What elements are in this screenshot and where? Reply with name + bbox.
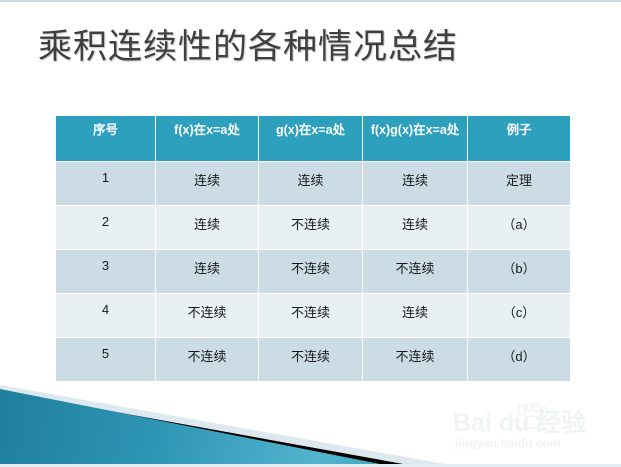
watermark-url: jingyan.baidu.com [455,436,560,450]
continuity-summary-table: 序号 f(x)在x=a处 g(x)在x=a处 f(x)g(x)在x=a处 例子 … [55,115,571,382]
table-row: 2 连续 不连续 连续 （a） [56,206,571,250]
cell-g: 不连续 [259,250,363,294]
cell-f: 连续 [156,250,259,294]
decorative-teal-triangle [0,385,621,467]
cell-example: （b） [468,250,571,294]
column-header-index: 序号 [56,116,156,162]
cell-g: 不连续 [259,294,363,338]
cell-product: 连续 [363,294,468,338]
column-header-f: f(x)在x=a处 [156,116,259,162]
table-row: 5 不连续 不连续 不连续 （d） [56,338,571,382]
cell-example: （a） [468,206,571,250]
column-header-product: f(x)g(x)在x=a处 [363,116,468,162]
cell-f: 不连续 [156,294,259,338]
cell-g: 不连续 [259,338,363,382]
cell-index: 3 [56,250,156,294]
table-header: 序号 f(x)在x=a处 g(x)在x=a处 f(x)g(x)在x=a处 例子 [56,116,571,162]
cell-product: 连续 [363,162,468,206]
page-title: 乘积连续性的各种情况总结 [38,24,458,70]
baidu-jingyan-watermark: Bai du 经验 jingyan.baidu.com [453,403,605,453]
cell-example: 定理 [468,162,571,206]
slide-canvas: 乘积连续性的各种情况总结 序号 f(x)在x=a处 g(x)在x=a处 f(x)… [0,0,621,467]
watermark-brand: Bai du 经验 [453,409,586,437]
paw-print-icon [515,403,549,429]
cell-g: 连续 [259,162,363,206]
cell-f: 连续 [156,162,259,206]
cell-product: 不连续 [363,338,468,382]
cell-f: 连续 [156,206,259,250]
table-header-row: 序号 f(x)在x=a处 g(x)在x=a处 f(x)g(x)在x=a处 例子 [56,116,571,162]
cell-index: 2 [56,206,156,250]
column-header-example: 例子 [468,116,571,162]
slide-top-rule [0,0,621,2]
cell-product: 不连续 [363,250,468,294]
cell-g: 不连续 [259,206,363,250]
cell-index: 4 [56,294,156,338]
column-header-g: g(x)在x=a处 [259,116,363,162]
table-row: 4 不连续 不连续 连续 （c） [56,294,571,338]
cell-index: 1 [56,162,156,206]
cell-index: 5 [56,338,156,382]
table-row: 3 连续 不连续 不连续 （b） [56,250,571,294]
cell-product: 连续 [363,206,468,250]
table-row: 1 连续 连续 连续 定理 [56,162,571,206]
cell-f: 不连续 [156,338,259,382]
table-body: 1 连续 连续 连续 定理 2 连续 不连续 连续 （a） 3 连续 不连续 不… [56,162,571,382]
cell-example: （c） [468,294,571,338]
cell-example: （d） [468,338,571,382]
